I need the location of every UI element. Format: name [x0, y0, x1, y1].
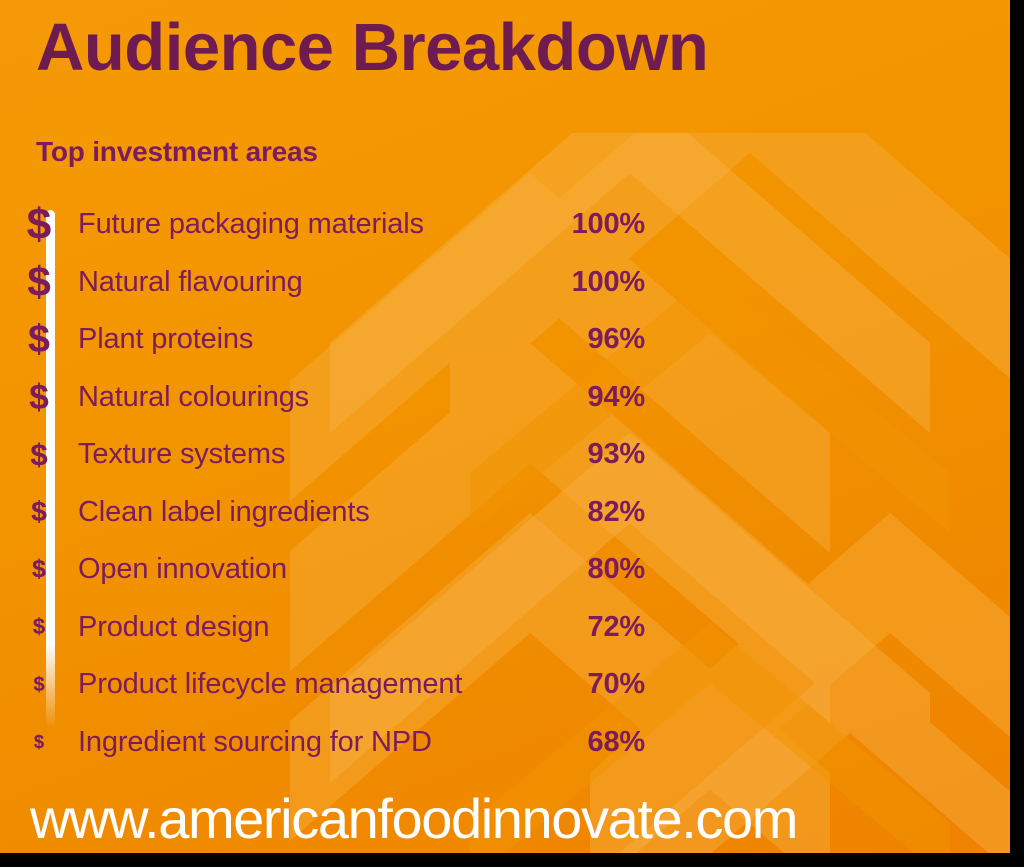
list-item-label: Product lifecycle management	[78, 668, 541, 701]
frame-edge-right	[1010, 0, 1024, 867]
list-item-percentage: 93%	[541, 438, 660, 471]
list-item: $Product design72%	[0, 599, 660, 657]
list-item-percentage: 70%	[541, 668, 660, 701]
dollar-sign-icon: $	[0, 320, 78, 359]
list-item: $Natural colourings94%	[0, 369, 660, 427]
list-item-percentage: 94%	[541, 381, 660, 414]
section-subtitle: Top investment areas	[36, 136, 318, 168]
list-item-percentage: 100%	[541, 266, 660, 299]
list-item-label: Texture systems	[78, 438, 541, 471]
list-item-percentage: 82%	[541, 496, 660, 529]
list-item-label: Plant proteins	[78, 323, 541, 356]
investment-areas-list: $Future packaging materials100%$Natural …	[0, 196, 660, 771]
page-title: Audience Breakdown	[36, 10, 708, 85]
list-item-percentage: 68%	[541, 726, 660, 759]
list-item-label: Ingredient sourcing for NPD	[78, 726, 541, 759]
dollar-sign-icon: $	[0, 733, 78, 751]
list-item: $Product lifecycle management70%	[0, 656, 660, 714]
list-item-label: Open innovation	[78, 553, 541, 586]
dollar-sign-icon: $	[0, 380, 78, 415]
dollar-sign-icon: $	[0, 498, 78, 526]
frame-edge-bottom	[0, 853, 1024, 867]
list-item-label: Future packaging materials	[78, 208, 541, 241]
list-item: $Open innovation80%	[0, 541, 660, 599]
list-item: $Natural flavouring100%	[0, 254, 660, 312]
list-item: $Future packaging materials100%	[0, 196, 660, 254]
dollar-sign-icon: $	[0, 616, 78, 638]
list-item: $Plant proteins96%	[0, 311, 660, 369]
dollar-sign-icon: $	[0, 439, 78, 470]
list-item-label: Clean label ingredients	[78, 496, 541, 529]
list-item-percentage: 100%	[541, 208, 660, 241]
poster-slide: Audience Breakdown Top investment areas …	[0, 0, 1024, 867]
poster-canvas: Audience Breakdown Top investment areas …	[0, 0, 1010, 853]
list-item-percentage: 72%	[541, 611, 660, 644]
website-url[interactable]: www.americanfoodinnovate.com	[30, 786, 797, 851]
list-item-label: Product design	[78, 611, 541, 644]
list-item: $Clean label ingredients82%	[0, 484, 660, 542]
list-item: $Ingredient sourcing for NPD68%	[0, 714, 660, 772]
dollar-sign-icon: $	[0, 203, 78, 247]
list-item-percentage: 96%	[541, 323, 660, 356]
list-item-percentage: 80%	[541, 553, 660, 586]
list-item: $Texture systems93%	[0, 426, 660, 484]
dollar-sign-icon: $	[0, 675, 78, 695]
dollar-sign-icon: $	[0, 261, 78, 303]
list-item-label: Natural flavouring	[78, 266, 541, 299]
list-item-label: Natural colourings	[78, 381, 541, 414]
dollar-sign-icon: $	[0, 557, 78, 582]
